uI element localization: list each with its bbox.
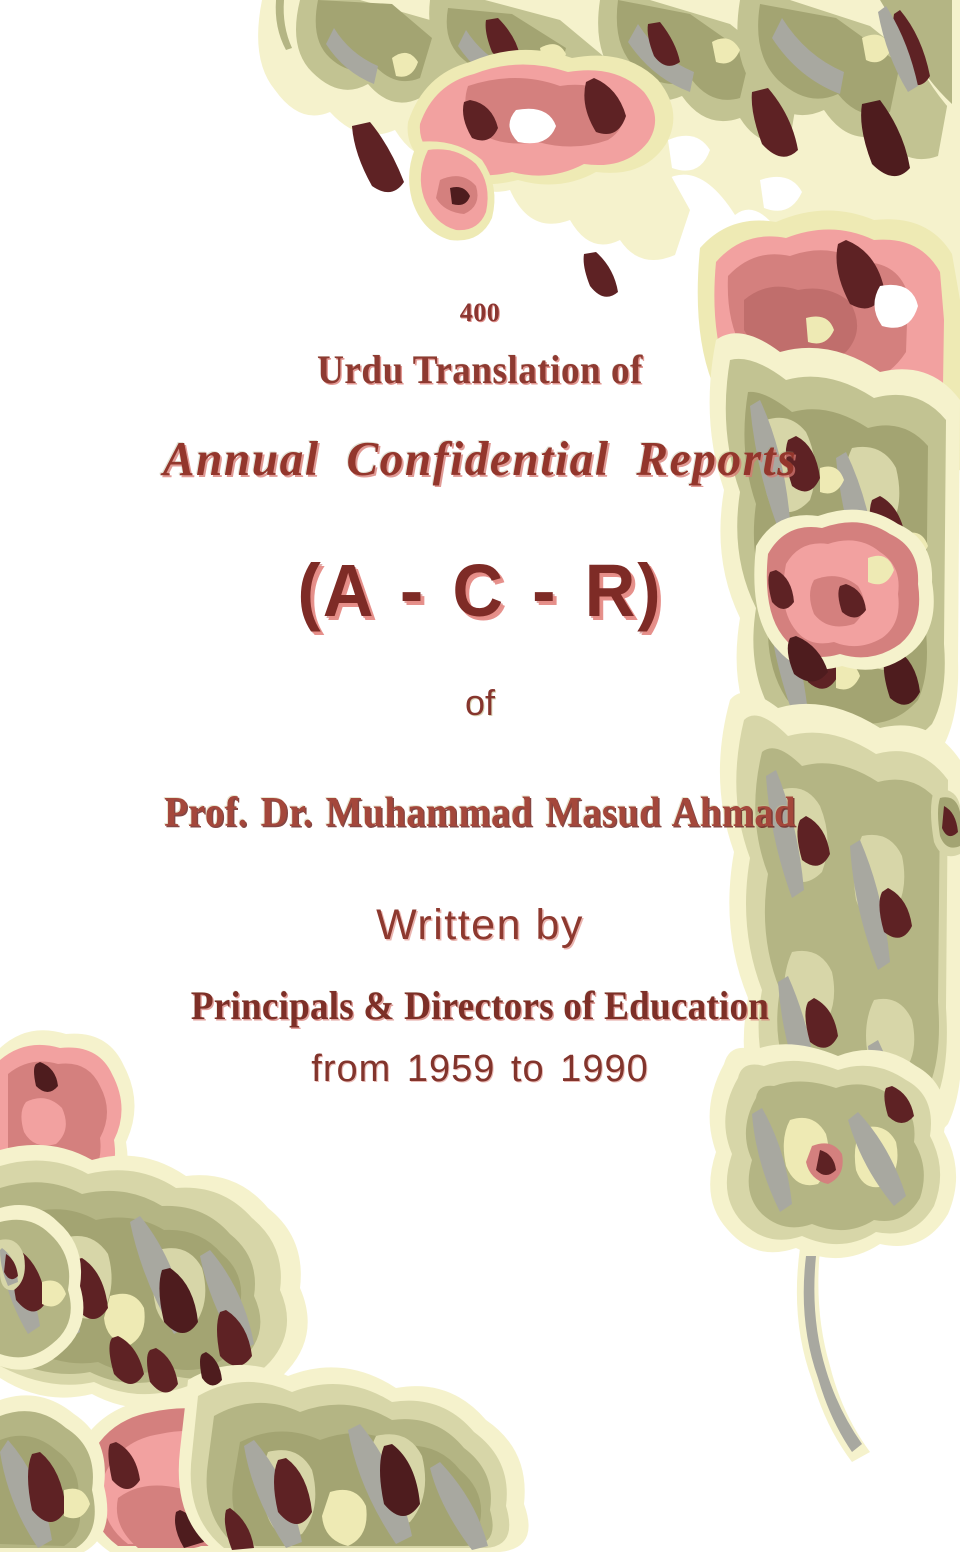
left-tiny-leaf [0, 1239, 25, 1290]
bottom-left-accents [109, 1336, 222, 1393]
author-name: Prof. Dr. Muhammad Masud Ahmad [38, 789, 921, 837]
title-page: 400 Urdu Translation of Annual Confident… [0, 0, 960, 1552]
credit-principals-directors: Principals & Directors of Education [34, 982, 927, 1029]
main-title-annual-confidential-reports: Annual Confidential Reports [14, 430, 945, 487]
left-edge-foliage [0, 1205, 83, 1370]
left-lower-foliage [0, 1145, 308, 1408]
top-right-branch [868, 0, 960, 120]
page-number: 400 [0, 298, 960, 328]
floral-border-decoration [0, 0, 960, 1552]
top-blossom [408, 50, 674, 241]
right-leaf-fan [710, 1044, 957, 1462]
top-foliage-cluster [258, 0, 960, 330]
right-edge-leaf [931, 789, 960, 856]
upper-left-stem [270, 0, 296, 56]
bottom-left-foliage [0, 1395, 107, 1552]
written-by-label: Written by [0, 901, 960, 950]
bottom-center-foliage [179, 1365, 529, 1552]
acronym-acr: (A - C - R) [24, 548, 936, 633]
bottom-blossom [73, 1396, 294, 1552]
date-range: from 1959 to 1990 [0, 1048, 960, 1091]
connector-of: of [0, 682, 960, 724]
subtitle-urdu-translation-of: Urdu Translation of [34, 346, 927, 393]
